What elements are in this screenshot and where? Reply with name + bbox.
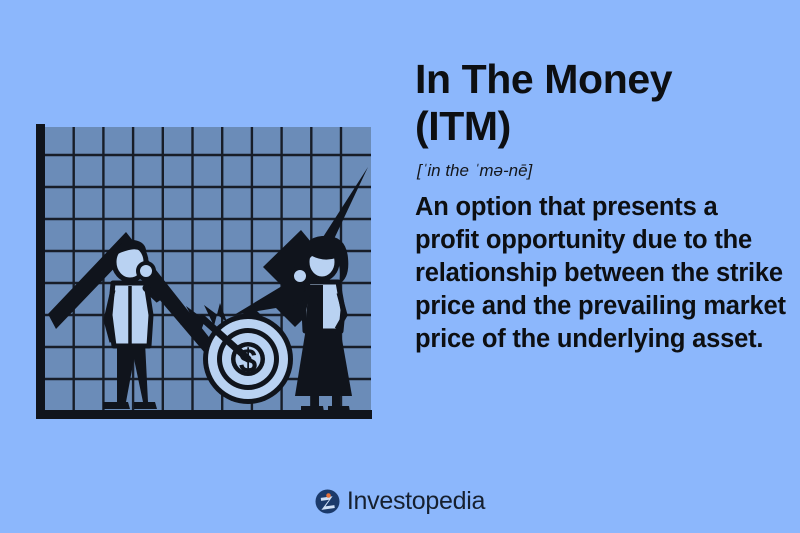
- chart-x-axis: [36, 410, 372, 419]
- investopedia-logo: Investopedia: [0, 489, 800, 514]
- page-title: In The Money (ITM): [415, 56, 790, 150]
- investopedia-logo-icon: [315, 489, 340, 514]
- chart-y-axis: [36, 124, 45, 419]
- illustration-stock-chart: $: [20, 110, 400, 430]
- investopedia-wordmark: Investopedia: [347, 489, 485, 514]
- illustration-svg: $: [20, 110, 400, 430]
- infographic-card: $: [0, 0, 800, 533]
- pronunciation-text: [ˈin the ˈmə-nē]: [417, 160, 790, 182]
- term-text-column: In The Money (ITM) [ˈin the ˈmə-nē] An o…: [415, 56, 790, 356]
- definition-text: An option that presents a profit opportu…: [415, 191, 787, 356]
